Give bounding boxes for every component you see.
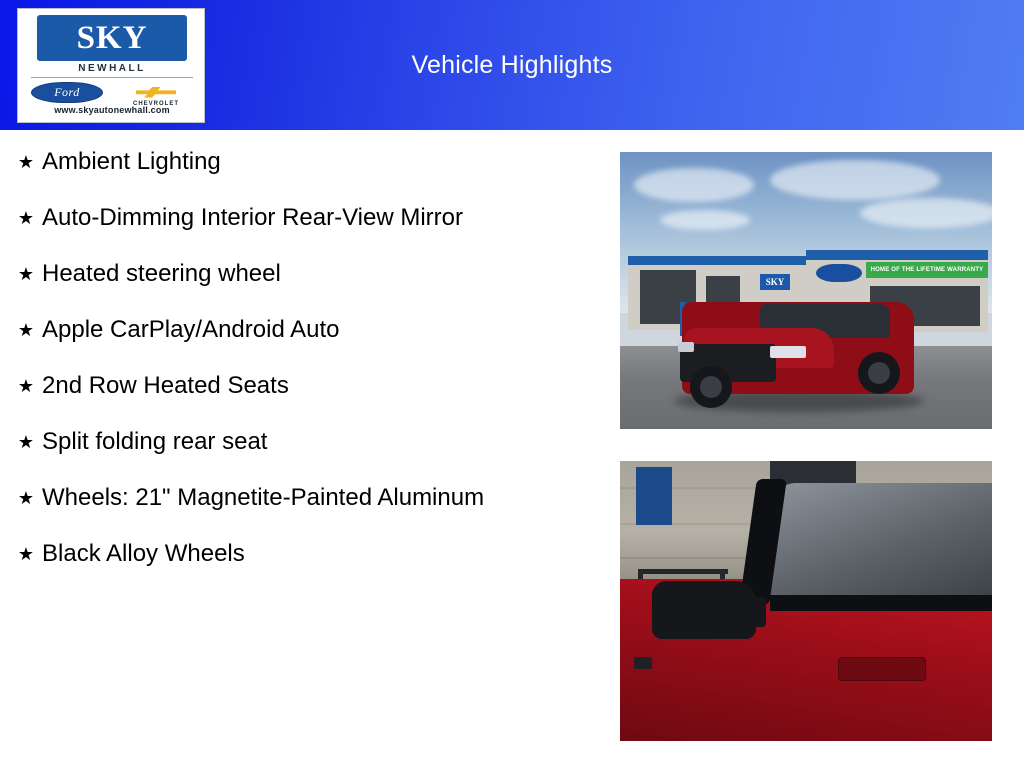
- list-item-label: Apple CarPlay/Android Auto: [42, 314, 340, 346]
- vehicle-highlights-list: ★ Ambient Lighting ★ Auto-Dimming Interi…: [10, 146, 590, 594]
- vehicle-fender-badge: [634, 657, 652, 669]
- logo-location-text: NEWHALL: [23, 63, 201, 74]
- list-item-label: Auto-Dimming Interior Rear-View Mirror: [42, 202, 463, 234]
- cloud-shape: [660, 210, 750, 230]
- logo-sky-badge: SKY: [37, 15, 187, 61]
- background-blue-panel: [636, 467, 672, 525]
- list-item: ★ Heated steering wheel: [10, 258, 590, 290]
- window-belt-line: [770, 595, 992, 611]
- logo-brand-text: SKY: [77, 22, 148, 55]
- star-icon: ★: [10, 426, 42, 458]
- vehicle-door-handle: [838, 657, 926, 681]
- list-item: ★ Ambient Lighting: [10, 146, 590, 178]
- vehicle-photo-exterior-front: SKY HOME OF THE LIFETIME WARRANTY: [620, 152, 992, 429]
- vehicle-window-glass: [770, 483, 992, 601]
- vehicle-headlight: [770, 346, 806, 358]
- list-item: ★ 2nd Row Heated Seats: [10, 370, 590, 402]
- railing-bar: [638, 569, 728, 574]
- list-item-label: Heated steering wheel: [42, 258, 281, 290]
- list-item-label: 2nd Row Heated Seats: [42, 370, 289, 402]
- slide: Vehicle Highlights SKY NEWHALL Ford CHEV…: [0, 0, 1024, 768]
- star-icon: ★: [10, 146, 42, 178]
- vehicle-wheel-rim: [868, 362, 890, 384]
- star-icon: ★: [10, 538, 42, 570]
- list-item: ★ Auto-Dimming Interior Rear-View Mirror: [10, 202, 590, 234]
- ford-oval-sign-icon: [816, 264, 862, 282]
- chevrolet-bowtie-shape: [136, 87, 176, 98]
- dealer-logo-inner: SKY NEWHALL Ford CHEVROLET www.skyautone…: [23, 13, 201, 120]
- cloud-shape: [634, 168, 754, 202]
- list-item-label: Ambient Lighting: [42, 146, 221, 178]
- list-item-label: Split folding rear seat: [42, 426, 267, 458]
- logo-brand-marks: Ford CHEVROLET: [23, 81, 201, 103]
- vehicle-headlight: [678, 342, 694, 352]
- list-item-label: Black Alloy Wheels: [42, 538, 245, 570]
- star-icon: ★: [10, 370, 42, 402]
- star-icon: ★: [10, 482, 42, 514]
- building-blue-trim: [628, 256, 806, 265]
- list-item: ★ Wheels: 21" Magnetite-Painted Aluminum: [10, 482, 590, 514]
- chevrolet-bowtie-icon: CHEVROLET: [119, 82, 193, 102]
- cloud-shape: [770, 160, 940, 200]
- sky-sign: SKY: [760, 274, 790, 290]
- list-item: ★ Black Alloy Wheels: [10, 538, 590, 570]
- dealer-logo: SKY NEWHALL Ford CHEVROLET www.skyautone…: [17, 8, 205, 123]
- list-item: ★ Split folding rear seat: [10, 426, 590, 458]
- star-icon: ★: [10, 258, 42, 290]
- list-item: ★ Apple CarPlay/Android Auto: [10, 314, 590, 346]
- list-item-label: Wheels: 21" Magnetite-Painted Aluminum: [42, 482, 484, 514]
- cloud-shape: [860, 198, 992, 228]
- vehicle-wheel-rim: [700, 376, 722, 398]
- ford-oval-icon: Ford: [31, 82, 103, 103]
- star-icon: ★: [10, 314, 42, 346]
- logo-divider: [31, 77, 193, 78]
- building-blue-trim: [806, 250, 988, 260]
- lifetime-warranty-banner: HOME OF THE LIFETIME WARRANTY: [866, 262, 988, 278]
- star-icon: ★: [10, 202, 42, 234]
- vehicle-photo-exterior-detail: [620, 461, 992, 741]
- mirror-arm: [732, 597, 766, 627]
- logo-website-text: www.skyautonewhall.com: [23, 105, 201, 115]
